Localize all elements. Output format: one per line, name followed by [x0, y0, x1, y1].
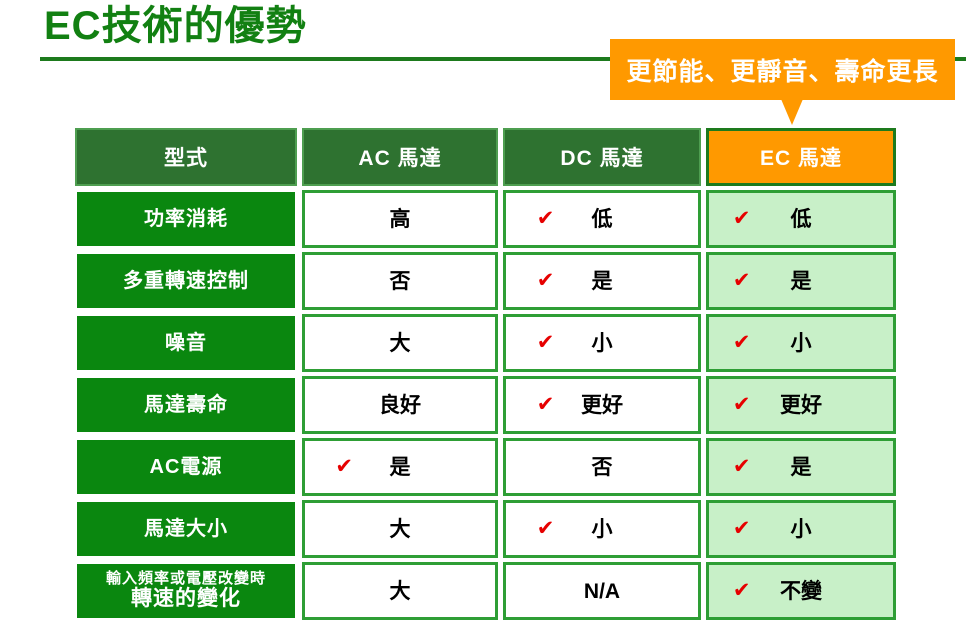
cell-value-text: 不變: [780, 581, 822, 602]
row-label-cell: 功率消耗: [75, 190, 297, 248]
cell-content: 否: [305, 255, 495, 307]
cell-content: 大: [305, 503, 495, 555]
value-cell-ac: ✔是: [302, 438, 498, 496]
row-label-cell: 噪音: [75, 314, 297, 372]
cell-content: ✔小: [506, 503, 698, 555]
value-cell-ac: 否: [302, 252, 498, 310]
check-icon: ✔: [733, 580, 751, 601]
motor-comparison-table: 型式 AC 馬達 DC 馬達 EC 馬達 功率消耗高✔低✔低多重轉速控制否✔是✔…: [70, 124, 901, 624]
cell-content: ✔是: [506, 255, 698, 307]
cell-value-text: 更好: [780, 395, 822, 416]
cell-content: ✔更好: [506, 379, 698, 431]
value-cell-dc: ✔更好: [503, 376, 701, 434]
cell-value-text: 否: [390, 271, 411, 292]
row-label-cell: 多重轉速控制: [75, 252, 297, 310]
row-label-line-1: 輸入頻率或電壓改變時: [77, 571, 295, 588]
cell-value-text: 小: [791, 333, 812, 354]
callout-banner: 更節能、更靜音、壽命更長: [610, 39, 955, 100]
cell-value-text: 是: [791, 457, 812, 478]
cell-value-text: N/A: [584, 581, 620, 602]
table-row: AC電源✔是否✔是: [75, 438, 896, 496]
value-cell-ec: ✔是: [706, 252, 896, 310]
cell-content: ✔不變: [709, 565, 893, 617]
table-row: 輸入頻率或電壓改變時轉速的變化大N/A✔不變: [75, 562, 896, 620]
cell-content: ✔小: [709, 317, 893, 369]
value-cell-ac: 大: [302, 500, 498, 558]
page-title: EC技術的優勢: [44, 2, 307, 50]
table-header-row: 型式 AC 馬達 DC 馬達 EC 馬達: [75, 128, 896, 186]
cell-value-text: 是: [592, 271, 613, 292]
value-cell-ac: 良好: [302, 376, 498, 434]
value-cell-dc: ✔是: [503, 252, 701, 310]
cell-content: ✔是: [709, 441, 893, 493]
cell-content: ✔低: [506, 193, 698, 245]
callout-pointer-icon: [781, 99, 803, 125]
cell-content: 否: [506, 441, 698, 493]
cell-value-text: 大: [390, 519, 411, 540]
check-icon: ✔: [537, 208, 555, 229]
value-cell-ec: ✔低: [706, 190, 896, 248]
check-icon: ✔: [733, 518, 751, 539]
value-cell-dc: ✔小: [503, 500, 701, 558]
value-cell-dc: 否: [503, 438, 701, 496]
cell-content: 大: [305, 317, 495, 369]
table-row: 噪音大✔小✔小: [75, 314, 896, 372]
header-cell-ec-motor: EC 馬達: [706, 128, 896, 186]
value-cell-ec: ✔是: [706, 438, 896, 496]
cell-content: N/A: [506, 565, 698, 617]
value-cell-ac: 高: [302, 190, 498, 248]
cell-content: ✔低: [709, 193, 893, 245]
check-icon: ✔: [733, 270, 751, 291]
row-label-cell: 馬達大小: [75, 500, 297, 558]
cell-value-text: 大: [390, 581, 411, 602]
check-icon: ✔: [733, 394, 751, 415]
check-icon: ✔: [733, 456, 751, 477]
cell-value-text: 低: [791, 209, 812, 230]
value-cell-ec: ✔小: [706, 314, 896, 372]
header-cell-dc-motor: DC 馬達: [503, 128, 701, 186]
value-cell-dc: ✔小: [503, 314, 701, 372]
row-label-cell: 輸入頻率或電壓改變時轉速的變化: [75, 562, 297, 620]
check-icon: ✔: [537, 518, 555, 539]
value-cell-ac: 大: [302, 314, 498, 372]
cell-content: ✔是: [305, 441, 495, 493]
table-row: 馬達壽命良好✔更好✔更好: [75, 376, 896, 434]
cell-value-text: 小: [592, 519, 613, 540]
cell-content: ✔小: [709, 503, 893, 555]
table-row: 功率消耗高✔低✔低: [75, 190, 896, 248]
cell-value-text: 小: [791, 519, 812, 540]
check-icon: ✔: [537, 270, 555, 291]
cell-value-text: 是: [791, 271, 812, 292]
cell-value-text: 良好: [379, 395, 421, 416]
cell-value-text: 大: [390, 333, 411, 354]
header-cell-type: 型式: [75, 128, 297, 186]
cell-content: 高: [305, 193, 495, 245]
row-label-cell: 馬達壽命: [75, 376, 297, 434]
header-cell-ac-motor: AC 馬達: [302, 128, 498, 186]
check-icon: ✔: [537, 394, 555, 415]
cell-value-text: 小: [592, 333, 613, 354]
table-row: 馬達大小大✔小✔小: [75, 500, 896, 558]
value-cell-ec: ✔更好: [706, 376, 896, 434]
callout-text: 更節能、更靜音、壽命更長: [626, 52, 938, 88]
cell-value-text: 低: [592, 209, 613, 230]
value-cell-ac: 大: [302, 562, 498, 620]
check-icon: ✔: [733, 208, 751, 229]
cell-content: 大: [305, 565, 495, 617]
cell-value-text: 否: [592, 457, 613, 478]
cell-value-text: 更好: [581, 395, 623, 416]
check-icon: ✔: [537, 332, 555, 353]
cell-content: ✔更好: [709, 379, 893, 431]
check-icon: ✔: [733, 332, 751, 353]
cell-content: ✔是: [709, 255, 893, 307]
cell-content: 良好: [305, 379, 495, 431]
cell-content: ✔小: [506, 317, 698, 369]
row-label-line-2: 轉速的變化: [77, 587, 295, 611]
check-icon: ✔: [335, 456, 353, 477]
row-label-cell: AC電源: [75, 438, 297, 496]
value-cell-dc: ✔低: [503, 190, 701, 248]
value-cell-dc: N/A: [503, 562, 701, 620]
table-row: 多重轉速控制否✔是✔是: [75, 252, 896, 310]
value-cell-ec: ✔不變: [706, 562, 896, 620]
cell-value-text: 是: [390, 457, 411, 478]
value-cell-ec: ✔小: [706, 500, 896, 558]
cell-value-text: 高: [390, 209, 411, 230]
